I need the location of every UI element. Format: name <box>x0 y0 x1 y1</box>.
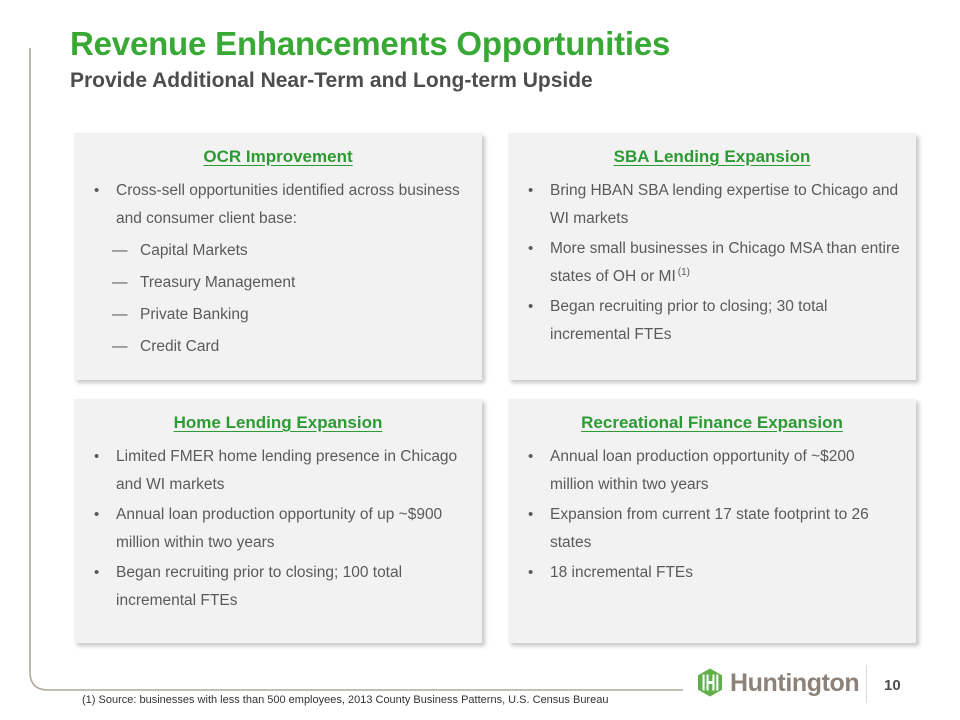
list-item: • 18 incremental FTEs <box>524 559 900 587</box>
footnote-marker: (1) <box>676 267 690 278</box>
bullet-text: Annual loan production opportunity of up… <box>116 501 466 557</box>
panel-title: OCR Improvement <box>90 145 466 169</box>
panel-bullet-list: • Limited FMER home lending presence in … <box>90 443 466 615</box>
list-item: • Cross-sell opportunities identified ac… <box>90 177 466 233</box>
panel-ocr-improvement: OCR Improvement • Cross-sell opportuniti… <box>74 133 482 380</box>
brand-logo: Huntington <box>697 668 859 697</box>
subitem-text: Treasury Management <box>140 267 295 299</box>
bullet-text: 18 incremental FTEs <box>550 559 900 587</box>
opportunity-panel-grid: OCR Improvement • Cross-sell opportuniti… <box>74 133 916 643</box>
list-item: • Began recruiting prior to closing; 100… <box>90 559 466 615</box>
bullet-text: Bring HBAN SBA lending expertise to Chic… <box>550 177 900 233</box>
list-item: • Annual loan production opportunity of … <box>90 501 466 557</box>
panel-title: Recreational Finance Expansion <box>524 411 900 435</box>
bullet-dot-icon: • <box>90 559 116 615</box>
bullet-dot-icon: • <box>524 235 550 291</box>
em-dash-icon: — <box>90 235 140 267</box>
list-item: — Treasury Management <box>90 267 466 299</box>
bullet-text: Limited FMER home lending presence in Ch… <box>116 443 466 499</box>
list-item: — Capital Markets <box>90 235 466 267</box>
bullet-dot-icon: • <box>90 443 116 499</box>
panel-bullet-list: • Annual loan production opportunity of … <box>524 443 900 587</box>
bullet-dot-icon: • <box>524 501 550 557</box>
panel-bullet-list: • Cross-sell opportunities identified ac… <box>90 177 466 363</box>
panel-title: Home Lending Expansion <box>90 411 466 435</box>
brand-wordmark: Huntington <box>730 670 859 696</box>
list-item: • Annual loan production opportunity of … <box>524 443 900 499</box>
bullet-text: Expansion from current 17 state footprin… <box>550 501 900 557</box>
huntington-hexagon-logo-icon <box>697 668 723 697</box>
subitem-text: Private Banking <box>140 299 249 331</box>
page-title: Revenue Enhancements Opportunities <box>70 24 920 64</box>
panel-title: SBA Lending Expansion <box>524 145 900 169</box>
list-item: • Began recruiting prior to closing; 30 … <box>524 293 900 349</box>
bullet-dot-icon: • <box>90 177 116 233</box>
list-item: • Bring HBAN SBA lending expertise to Ch… <box>524 177 900 233</box>
bullet-dot-icon: • <box>90 501 116 557</box>
list-item: — Private Banking <box>90 299 466 331</box>
list-item: • Limited FMER home lending presence in … <box>90 443 466 499</box>
bullet-text: Cross-sell opportunities identified acro… <box>116 177 466 233</box>
panel-sba-lending-expansion: SBA Lending Expansion • Bring HBAN SBA l… <box>508 133 916 380</box>
bullet-text: Annual loan production opportunity of ~$… <box>550 443 900 499</box>
em-dash-icon: — <box>90 299 140 331</box>
subitem-text: Credit Card <box>140 331 219 363</box>
bullet-dot-icon: • <box>524 177 550 233</box>
page-number: 10 <box>884 677 901 694</box>
panel-home-lending-expansion: Home Lending Expansion • Limited FMER ho… <box>74 399 482 643</box>
page-number-divider <box>866 665 867 703</box>
em-dash-icon: — <box>90 331 140 363</box>
list-item: — Credit Card <box>90 331 466 363</box>
bullet-dot-icon: • <box>524 443 550 499</box>
bullet-text: Began recruiting prior to closing; 100 t… <box>116 559 466 615</box>
panel-recreational-finance-expansion: Recreational Finance Expansion • Annual … <box>508 399 916 643</box>
bullet-text: Began recruiting prior to closing; 30 to… <box>550 293 900 349</box>
bullet-dot-icon: • <box>524 293 550 349</box>
em-dash-icon: — <box>90 267 140 299</box>
slide-header: Revenue Enhancements Opportunities Provi… <box>70 24 920 95</box>
bullet-text: More small businesses in Chicago MSA tha… <box>550 240 900 285</box>
list-item: • More small businesses in Chicago MSA t… <box>524 235 900 291</box>
panel-bullet-list: • Bring HBAN SBA lending expertise to Ch… <box>524 177 900 349</box>
page-subtitle: Provide Additional Near-Term and Long-te… <box>70 67 920 95</box>
footnote-source-text: (1) Source: businesses with less than 50… <box>82 694 608 706</box>
bullet-dot-icon: • <box>524 559 550 587</box>
list-item: • Expansion from current 17 state footpr… <box>524 501 900 557</box>
subitem-text: Capital Markets <box>140 235 248 267</box>
